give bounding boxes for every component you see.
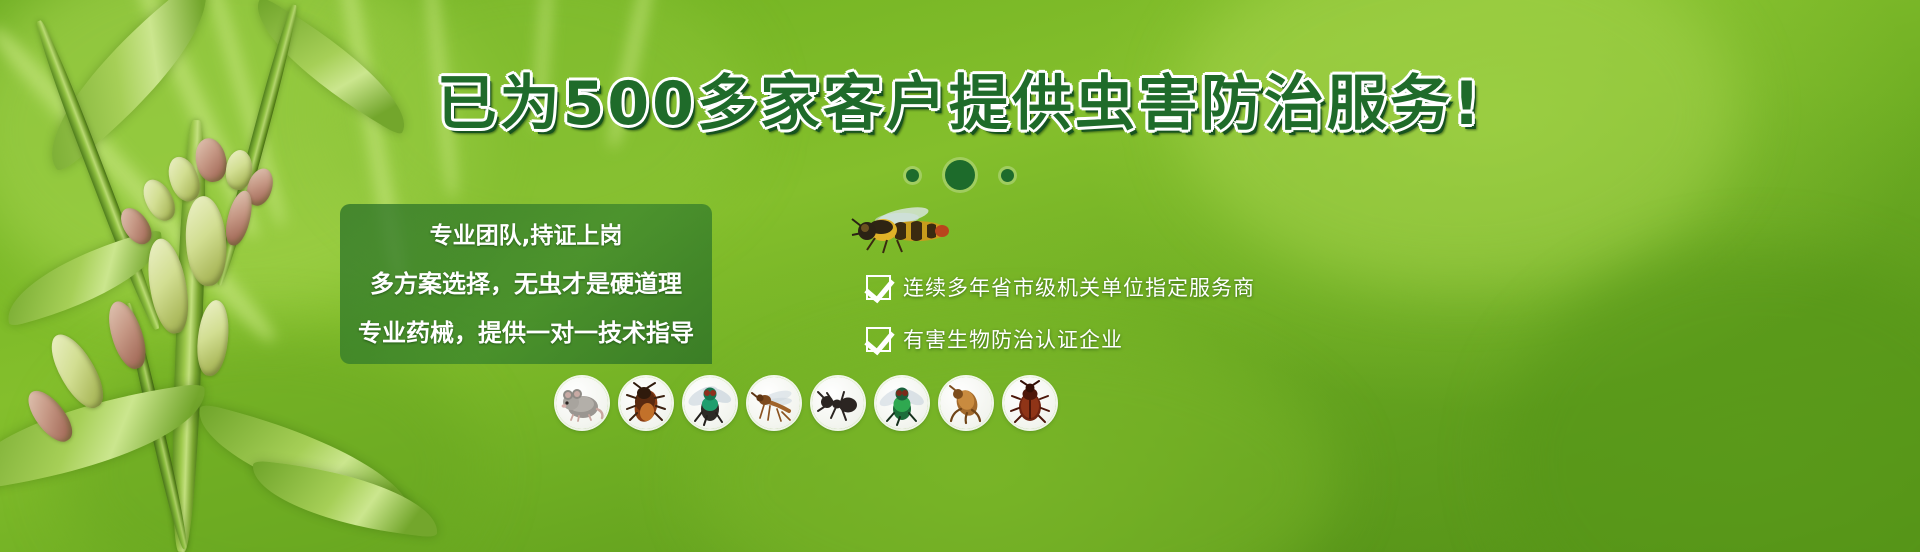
mosquito-icon[interactable] (748, 377, 800, 429)
decorative-dots (0, 160, 1920, 190)
slogan-line-2: 多方案选择，无虫才是硬道理 (370, 264, 682, 299)
slogan-line-1: 专业团队,持证上岗 (430, 216, 623, 250)
mouse-icon[interactable] (556, 377, 608, 429)
checkbox-checked-icon (866, 275, 891, 300)
flea-icon[interactable] (940, 377, 992, 429)
dot-small-right (1001, 169, 1014, 182)
cockroach-icon[interactable] (620, 377, 672, 429)
dot-small-left (906, 169, 919, 182)
pest-icon-strip (556, 377, 1056, 429)
checklist-item-label: 连续多年省市级机关单位指定服务商 (903, 272, 1255, 302)
checklist-item: 有害生物防治认证企业 (866, 324, 1255, 354)
slogan-panel: 专业团队,持证上岗 多方案选择，无虫才是硬道理 专业药械，提供一对一技术指导 (340, 204, 712, 364)
promo-banner: 已为500多家客户提供虫害防治服务! (0, 0, 1920, 552)
housefly-icon[interactable] (684, 377, 736, 429)
beetle-icon[interactable] (1004, 377, 1056, 429)
bokeh-blob (1180, 0, 1740, 290)
checklist-item: 连续多年省市级机关单位指定服务商 (866, 272, 1255, 302)
greenbottle-fly-icon[interactable] (876, 377, 928, 429)
ant-icon[interactable] (812, 377, 864, 429)
checkbox-checked-icon (866, 327, 891, 352)
headline-text: 已为500多家客户提供虫害防治服务! (0, 74, 1920, 134)
wasp-icon (845, 200, 965, 260)
dot-large-center (945, 160, 975, 190)
bokeh-blob (700, 330, 1340, 552)
bokeh-blob (1500, 250, 1920, 552)
slogan-line-3: 专业药械，提供一对一技术指导 (358, 313, 694, 348)
certification-checklist: 连续多年省市级机关单位指定服务商 有害生物防治认证企业 (866, 272, 1255, 354)
checklist-item-label: 有害生物防治认证企业 (903, 324, 1123, 354)
